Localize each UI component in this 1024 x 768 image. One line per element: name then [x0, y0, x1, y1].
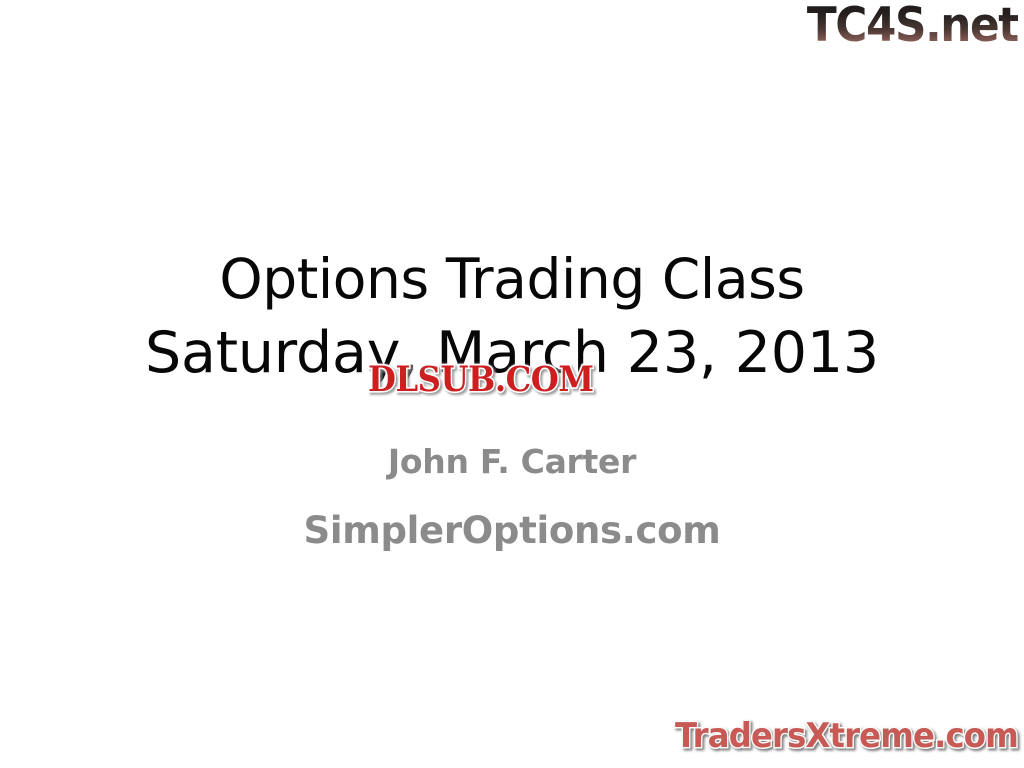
- tradersxtreme-watermark: TradersXtreme.com: [675, 719, 1018, 754]
- dlsub-overlay-watermark: DLSUB.COM: [368, 361, 594, 398]
- presenter-website: SimplerOptions.com: [0, 509, 1024, 553]
- presentation-slide: TC4S.net Options Trading Class Saturday,…: [0, 0, 1024, 768]
- tc4s-brand-watermark: TC4S.net: [807, 2, 1018, 49]
- presenter-name: John F. Carter: [0, 443, 1024, 482]
- slide-title-line-1: Options Trading Class: [0, 243, 1024, 316]
- slide-subtitle-block: John F. Carter SimplerOptions.com: [0, 443, 1024, 553]
